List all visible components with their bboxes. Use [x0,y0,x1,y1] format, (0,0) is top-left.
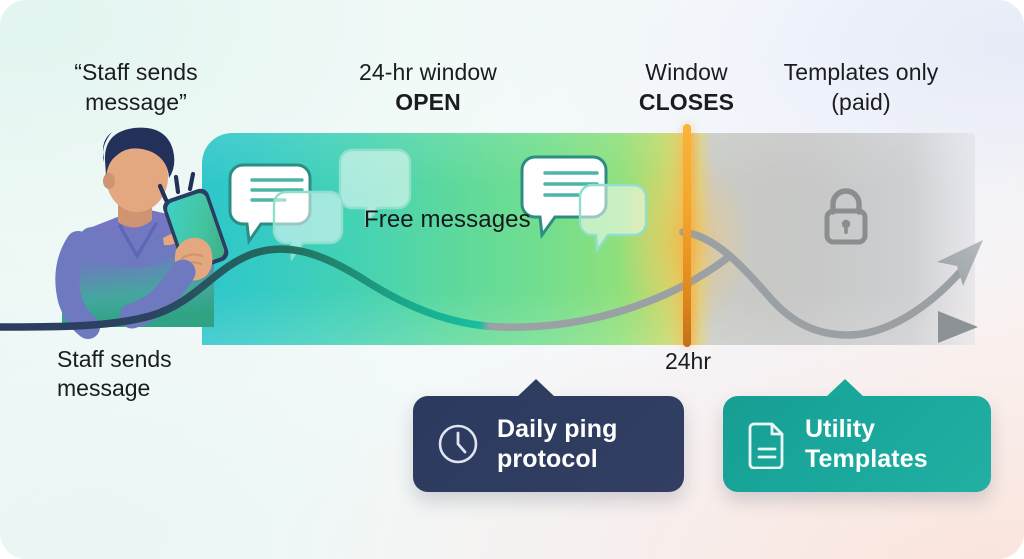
label-window-closes-line2: CLOSES [618,87,755,117]
label-staff-quote-line2: message” [28,87,244,117]
card-utility-templates[interactable]: Utility Templates [723,396,991,492]
lock-icon [818,185,874,251]
label-24hr: 24hr [645,348,731,375]
label-window-closes-line1: Window [618,57,755,87]
label-window-open: 24-hr window OPEN [318,57,538,117]
card-utility-templates-label: Utility Templates [805,414,928,474]
card-daily-ping-protocol[interactable]: Daily ping protocol [413,396,684,492]
document-icon [745,419,789,469]
label-templates-only-line2: (paid) [762,87,960,117]
label-window-open-line1: 24-hr window [318,57,538,87]
card-tail [826,379,864,397]
clock-icon [435,421,481,467]
staff-sends-message-caption: Staff sends message [57,345,247,403]
label-staff-sends-message-quote: “Staff sends message” [28,57,244,117]
label-staff-quote-line1: “Staff sends [28,57,244,87]
label-templates-only: Templates only (paid) [762,57,960,117]
infographic-canvas: “Staff sends message” 24-hr window OPEN … [0,0,1024,559]
divider-24hr-line [683,124,691,347]
card-tail [517,379,555,397]
label-window-open-line2: OPEN [318,87,538,117]
free-messages-label: Free messages [364,206,531,234]
label-templates-only-line1: Templates only [762,57,960,87]
card-daily-ping-label: Daily ping protocol [497,414,617,474]
label-window-closes: Window CLOSES [618,57,755,117]
